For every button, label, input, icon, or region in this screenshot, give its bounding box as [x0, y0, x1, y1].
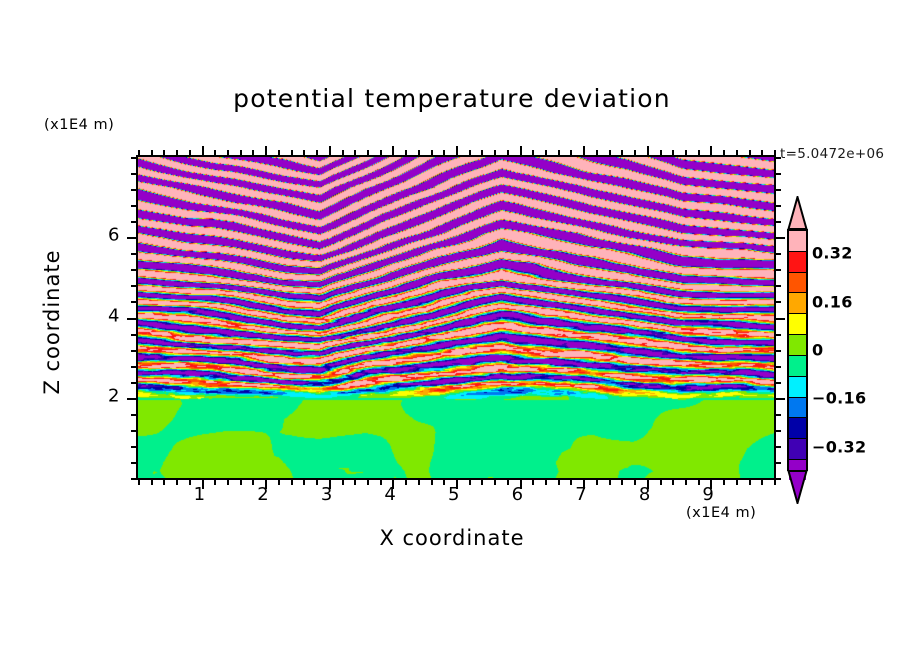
x-minor-tick-top	[736, 150, 738, 155]
colorbar-over-arrow	[787, 196, 808, 230]
x-minor-tick-top	[418, 150, 420, 155]
x-minor-tick-top	[507, 150, 509, 155]
y-major-tick-right	[776, 237, 785, 239]
colorbar-band	[789, 314, 806, 335]
x-minor-tick	[163, 480, 165, 485]
colorbar-bands	[787, 229, 808, 471]
y-minor-tick-right	[776, 382, 781, 384]
colorbar-band	[789, 377, 806, 398]
x-minor-tick	[723, 480, 725, 485]
x-minor-tick-top	[749, 150, 751, 155]
y-minor-tick	[131, 350, 136, 352]
x-minor-tick-top	[443, 150, 445, 155]
x-major-tick-top	[202, 146, 204, 155]
x-minor-tick	[481, 480, 483, 485]
colorbar-band	[789, 293, 806, 314]
y-minor-tick-right	[776, 269, 781, 271]
colorbar-tick-label: 0.32	[812, 244, 853, 263]
x-major-tick-top	[329, 146, 331, 155]
x-minor-tick	[342, 480, 344, 485]
page-title: potential temperature deviation	[0, 84, 904, 113]
y-minor-tick	[131, 478, 136, 480]
y-minor-tick-right	[776, 285, 781, 287]
x-minor-tick	[698, 480, 700, 485]
x-minor-tick-top	[214, 150, 216, 155]
y-minor-tick-right	[776, 366, 781, 368]
x-minor-tick-top	[227, 150, 229, 155]
x-minor-tick	[507, 480, 509, 485]
y-major-tick	[127, 398, 136, 400]
x-minor-tick	[545, 480, 547, 485]
y-major-tick-right	[776, 318, 785, 320]
x-minor-tick-top	[570, 150, 572, 155]
x-minor-tick-top	[354, 150, 356, 155]
x-minor-tick-top	[672, 150, 674, 155]
y-minor-tick-right	[776, 253, 781, 255]
y-major-tick	[127, 237, 136, 239]
colorbar-band	[789, 252, 806, 273]
x-minor-tick-top	[380, 150, 382, 155]
colorbar-band	[789, 273, 806, 294]
x-minor-tick	[443, 480, 445, 485]
y-minor-tick	[131, 205, 136, 207]
x-minor-tick-top	[316, 150, 318, 155]
x-minor-tick	[736, 480, 738, 485]
x-minor-tick	[672, 480, 674, 485]
x-minor-tick-top	[342, 150, 344, 155]
heatmap-plot-area	[136, 155, 776, 480]
x-major-tick-top	[265, 146, 267, 155]
y-minor-tick	[131, 189, 136, 191]
x-minor-tick	[354, 480, 356, 485]
x-minor-tick-top	[405, 150, 407, 155]
x-tick-label: 4	[384, 484, 396, 505]
x-minor-tick	[189, 480, 191, 485]
y-minor-tick-right	[776, 478, 781, 480]
x-minor-tick-top	[660, 150, 662, 155]
x-minor-tick-top	[558, 150, 560, 155]
colorbar-band	[789, 231, 806, 252]
y-minor-tick	[131, 269, 136, 271]
y-minor-tick	[131, 446, 136, 448]
y-major-tick	[127, 318, 136, 320]
y-minor-tick-right	[776, 221, 781, 223]
x-minor-tick-top	[545, 150, 547, 155]
y-major-tick-right	[776, 398, 785, 400]
x-minor-tick	[570, 480, 572, 485]
x-minor-tick	[367, 480, 369, 485]
x-axis-title: X coordinate	[0, 526, 904, 550]
x-minor-tick	[761, 480, 763, 485]
x-minor-tick-top	[698, 150, 700, 155]
x-minor-tick	[151, 480, 153, 485]
x-minor-tick	[609, 480, 611, 485]
x-minor-tick	[278, 480, 280, 485]
x-major-tick-top	[647, 146, 649, 155]
colorbar-tick-label: 0	[812, 341, 823, 360]
x-minor-tick-top	[774, 150, 776, 155]
y-minor-tick	[131, 221, 136, 223]
colorbar-band	[789, 398, 806, 419]
x-minor-tick-top	[367, 150, 369, 155]
x-minor-tick	[494, 480, 496, 485]
y-minor-tick	[131, 366, 136, 368]
x-minor-tick	[558, 480, 560, 485]
x-tick-label: 6	[512, 484, 524, 505]
x-major-tick-top	[583, 146, 585, 155]
y-minor-tick	[131, 414, 136, 416]
y-minor-tick-right	[776, 462, 781, 464]
y-minor-tick	[131, 334, 136, 336]
y-minor-tick	[131, 430, 136, 432]
x-minor-tick-top	[278, 150, 280, 155]
colorbar-tick-label: −0.16	[812, 389, 866, 408]
x-tick-label: 1	[194, 484, 206, 505]
x-minor-tick	[774, 480, 776, 485]
x-minor-tick-top	[685, 150, 687, 155]
y-minor-tick	[131, 157, 136, 159]
x-minor-tick-top	[723, 150, 725, 155]
colorbar-band	[789, 335, 806, 356]
x-minor-tick	[405, 480, 407, 485]
y-minor-tick-right	[776, 157, 781, 159]
x-tick-label: 9	[702, 484, 714, 505]
x-minor-tick	[685, 480, 687, 485]
x-major-tick-top	[520, 146, 522, 155]
x-minor-tick-top	[761, 150, 763, 155]
x-minor-tick-top	[532, 150, 534, 155]
x-minor-tick	[214, 480, 216, 485]
x-minor-tick	[291, 480, 293, 485]
x-minor-tick-top	[163, 150, 165, 155]
x-minor-tick-top	[240, 150, 242, 155]
x-minor-tick	[303, 480, 305, 485]
x-minor-tick	[469, 480, 471, 485]
x-minor-tick	[532, 480, 534, 485]
x-axis-unit-label: (x1E4 m)	[686, 505, 756, 521]
x-minor-tick-top	[303, 150, 305, 155]
y-axis-title: Z coordinate	[40, 212, 64, 432]
x-minor-tick-top	[634, 150, 636, 155]
colorbar: 0.320.160−0.16−0.32	[787, 196, 808, 504]
x-minor-tick	[596, 480, 598, 485]
y-minor-tick-right	[776, 189, 781, 191]
x-minor-tick-top	[431, 150, 433, 155]
x-minor-tick	[176, 480, 178, 485]
y-minor-tick	[131, 382, 136, 384]
x-minor-tick-top	[469, 150, 471, 155]
x-tick-label: 8	[639, 484, 651, 505]
x-minor-tick	[138, 480, 140, 485]
x-minor-tick-top	[138, 150, 140, 155]
colorbar-tick-label: 0.16	[812, 292, 853, 311]
x-minor-tick-top	[481, 150, 483, 155]
x-major-tick-top	[710, 146, 712, 155]
x-tick-label: 5	[448, 484, 460, 505]
colorbar-band	[789, 439, 806, 460]
y-minor-tick	[131, 301, 136, 303]
x-major-tick-top	[456, 146, 458, 155]
x-major-tick-top	[392, 146, 394, 155]
heatmap-canvas	[138, 157, 774, 478]
x-minor-tick	[660, 480, 662, 485]
y-minor-tick-right	[776, 173, 781, 175]
y-tick-label: 6	[88, 225, 120, 246]
x-minor-tick-top	[621, 150, 623, 155]
x-minor-tick-top	[596, 150, 598, 155]
y-tick-label: 2	[88, 385, 120, 406]
x-minor-tick	[621, 480, 623, 485]
x-minor-tick	[227, 480, 229, 485]
y-minor-tick	[131, 173, 136, 175]
y-minor-tick-right	[776, 446, 781, 448]
y-axis-unit-label: (x1E4 m)	[44, 117, 114, 133]
y-minor-tick-right	[776, 430, 781, 432]
y-minor-tick-right	[776, 301, 781, 303]
x-minor-tick-top	[176, 150, 178, 155]
y-minor-tick-right	[776, 205, 781, 207]
time-annotation: t=5.0472e+06	[780, 146, 884, 162]
colorbar-tick-label: −0.32	[812, 437, 866, 456]
x-minor-tick-top	[291, 150, 293, 155]
x-minor-tick-top	[494, 150, 496, 155]
y-minor-tick-right	[776, 350, 781, 352]
x-minor-tick-top	[189, 150, 191, 155]
x-tick-label: 3	[321, 484, 333, 505]
x-minor-tick	[380, 480, 382, 485]
y-minor-tick-right	[776, 414, 781, 416]
x-minor-tick	[252, 480, 254, 485]
x-minor-tick	[316, 480, 318, 485]
colorbar-band	[789, 418, 806, 439]
colorbar-band	[789, 356, 806, 377]
y-minor-tick-right	[776, 334, 781, 336]
x-minor-tick	[431, 480, 433, 485]
x-minor-tick	[418, 480, 420, 485]
x-minor-tick	[749, 480, 751, 485]
colorbar-under-arrow	[787, 470, 808, 504]
x-minor-tick	[240, 480, 242, 485]
y-minor-tick	[131, 285, 136, 287]
x-minor-tick-top	[151, 150, 153, 155]
x-minor-tick	[634, 480, 636, 485]
y-tick-label: 4	[88, 305, 120, 326]
x-tick-label: 7	[575, 484, 587, 505]
x-minor-tick-top	[609, 150, 611, 155]
x-minor-tick-top	[252, 150, 254, 155]
y-minor-tick	[131, 462, 136, 464]
y-minor-tick	[131, 253, 136, 255]
x-tick-label: 2	[257, 484, 269, 505]
